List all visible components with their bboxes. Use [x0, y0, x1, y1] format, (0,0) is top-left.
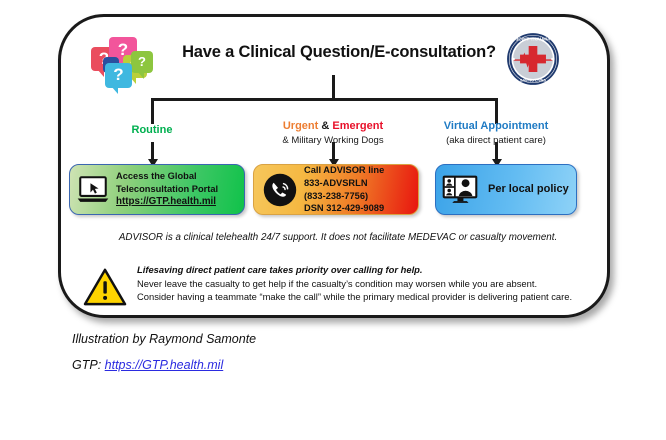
action-box-urgent[interactable]: Call ADVISOR line 833-ADVSRLN (833-238-7…: [253, 164, 419, 215]
warning-text-group: Lifesaving direct patient care takes pri…: [137, 263, 572, 304]
video-conference-icon: [442, 175, 478, 205]
gtp-label: GTP:: [72, 358, 105, 372]
connector-trunk: [332, 75, 335, 100]
action-box-routine[interactable]: Access the Global Teleconsultation Porta…: [69, 164, 245, 215]
branch-label-emergent-text: Emergent: [332, 120, 383, 132]
connector-left-drop: [151, 98, 154, 124]
warning-line-3: Consider having a teammate “make the cal…: [137, 290, 572, 304]
routine-box-text: Access the Global Teleconsultation Porta…: [116, 170, 218, 209]
poster-card: ? ? ? ? ? Have a Clinical Question/E-con…: [58, 14, 610, 318]
routine-line-1: Access the Global: [116, 171, 197, 181]
warning-headline: Lifesaving direct patient care takes pri…: [137, 263, 572, 277]
action-box-virtual[interactable]: Per local policy: [435, 164, 577, 215]
seal-bottom-text: SAVING LIVES: [520, 79, 547, 83]
connector-horizontal: [151, 98, 498, 101]
advisor-line-3: (833-238-7756): [304, 191, 368, 201]
routine-portal-link[interactable]: https://GTP.health.mil: [116, 196, 216, 207]
phone-call-icon: [262, 172, 298, 208]
branch-label-routine: Routine: [97, 124, 207, 138]
warning-triangle-icon: [83, 267, 127, 307]
caption-block: Illustration by Raymond Samonte GTP: htt…: [72, 332, 256, 372]
arrow-to-urgent-box: [332, 142, 335, 160]
speech-bubble-green: ?: [131, 51, 153, 73]
warning-block: Lifesaving direct patient care takes pri…: [83, 263, 593, 307]
joint-trauma-system-seal: JOINT TRAUMA SAVING LIVES: [506, 32, 560, 86]
branch-label-virtual-text: Virtual Appointment: [444, 120, 549, 132]
speech-bubble-cyan: ?: [105, 63, 132, 88]
advisor-line-1: Call ADVISOR line: [304, 165, 384, 175]
question-speech-bubbles-icon: ? ? ? ? ?: [89, 37, 155, 93]
illustration-credit: Illustration by Raymond Samonte: [72, 332, 256, 346]
urgent-box-text: Call ADVISOR line 833-ADVSRLN (833-238-7…: [304, 164, 384, 215]
advisor-line-4: DSN 312-429-9089: [304, 203, 384, 213]
branch-label-ampersand: &: [318, 120, 332, 132]
arrow-to-virtual-box: [495, 142, 498, 160]
gtp-url-link[interactable]: https://GTP.health.mil: [105, 358, 224, 372]
routine-line-2: Teleconsultation Portal: [116, 184, 218, 194]
page-title: Have a Clinical Question/E-consultation?: [161, 43, 517, 62]
warning-line-2: Never leave the casualty to get help if …: [137, 277, 572, 291]
gtp-caption-line: GTP: https://GTP.health.mil: [72, 358, 256, 372]
seal-top-text: JOINT TRAUMA: [516, 37, 551, 42]
arrow-to-routine-box: [151, 142, 154, 160]
virtual-box-text: Per local policy: [488, 182, 569, 197]
advisor-note: ADVISOR is a clinical telehealth 24/7 su…: [93, 232, 583, 243]
branch-label-urgent-text: Urgent: [283, 120, 318, 132]
laptop-cursor-icon: [76, 175, 110, 205]
branch-label-routine-text: Routine: [132, 124, 173, 136]
advisor-line-2: 833-ADVSRLN: [304, 178, 368, 188]
